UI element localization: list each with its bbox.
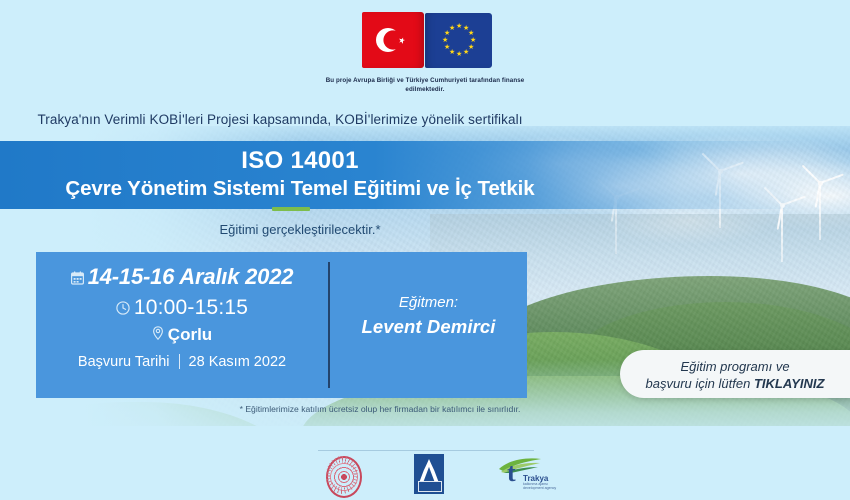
turkey-crescent-star-icon	[362, 12, 424, 68]
footer-logos: t Trakya kalkınma ajansı development age…	[0, 452, 850, 500]
intro-text: Trakya'nın Verimli KOBİ'leri Projesi kap…	[0, 112, 560, 127]
trakya-swoosh-icon	[498, 457, 542, 473]
application-label: Başvuru Tarihi	[78, 354, 170, 370]
apply-cta-button[interactable]: Eğitim programı ve başvuru için lütfen T…	[620, 350, 850, 398]
training-time: 10:00-15:15	[134, 296, 248, 319]
label-divider	[179, 354, 180, 369]
footnote: * Eğitimlerimize katılım ücretsiz olup h…	[0, 404, 760, 414]
trainer-name: Levent Demirci	[330, 316, 527, 338]
title-banner: ISO 14001 Çevre Yönetim Sistemi Temel Eğ…	[0, 141, 850, 209]
training-date: 14-15-16 Aralık 2022	[88, 264, 294, 289]
chamber-logo-text-block	[418, 481, 442, 492]
training-info-panel: 14-15-16 Aralık 2022 10:00-15:15	[36, 252, 527, 398]
trainer-label: Eğitmen:	[330, 294, 527, 311]
standard-name: ISO 14001	[0, 147, 600, 175]
schedule-block: 14-15-16 Aralık 2022 10:00-15:15	[36, 252, 328, 398]
clock-icon	[116, 297, 130, 321]
trakya-t-letter: t	[507, 460, 516, 486]
cta-line-2-prefix: başvuru için lütfen	[646, 376, 754, 391]
training-location: Çorlu	[168, 325, 212, 344]
poster-canvas: ★ ★ ★ ★ ★ ★ ★ ★ ★ ★ ★ ★ Bu proje Avrupa …	[0, 0, 850, 500]
eu-stars: ★ ★ ★ ★ ★ ★ ★ ★ ★ ★ ★ ★	[425, 13, 492, 68]
map-pin-icon	[152, 325, 164, 345]
ministry-seal-ticks	[326, 456, 358, 494]
application-date: 28 Kasım 2022	[189, 354, 287, 370]
cta-line-2: başvuru için lütfen TIKLAYINIZ	[620, 376, 850, 391]
funding-caption: Bu proje Avrupa Birliği ve Türkiye Cumhu…	[325, 76, 525, 94]
trainer-block: Eğitmen: Levent Demirci	[330, 252, 527, 398]
chamber-logo	[412, 452, 448, 496]
trakya-logo-subtext: kalkınma ajansı development agency	[523, 482, 557, 491]
training-date-row: 14-15-16 Aralık 2022	[36, 264, 328, 291]
green-accent-bar	[272, 207, 310, 211]
flags-group: ★ ★ ★ ★ ★ ★ ★ ★ ★ ★ ★ ★	[362, 12, 492, 70]
training-subline: Eğitimi gerçekleştirilecektir.*	[0, 222, 600, 237]
footer-divider	[318, 450, 534, 451]
title-banner-content: ISO 14001 Çevre Yönetim Sistemi Temel Eğ…	[0, 141, 600, 201]
application-deadline-row: Başvuru Tarihi28 Kasım 2022	[36, 354, 328, 370]
turkey-flag-icon	[362, 12, 424, 68]
training-time-row: 10:00-15:15	[36, 296, 328, 320]
training-title: Çevre Yönetim Sistemi Temel Eğitimi ve İ…	[0, 177, 600, 201]
ministry-seal-logo	[322, 452, 362, 496]
calendar-icon	[71, 265, 84, 291]
trakya-agency-logo: t Trakya kalkınma ajansı development age…	[496, 452, 558, 496]
cta-click-here: TIKLAYINIZ	[754, 376, 825, 391]
training-location-row: Çorlu	[36, 325, 328, 346]
header: ★ ★ ★ ★ ★ ★ ★ ★ ★ ★ ★ ★ Bu proje Avrupa …	[0, 0, 850, 126]
cta-line-1: Eğitim programı ve	[620, 359, 850, 374]
